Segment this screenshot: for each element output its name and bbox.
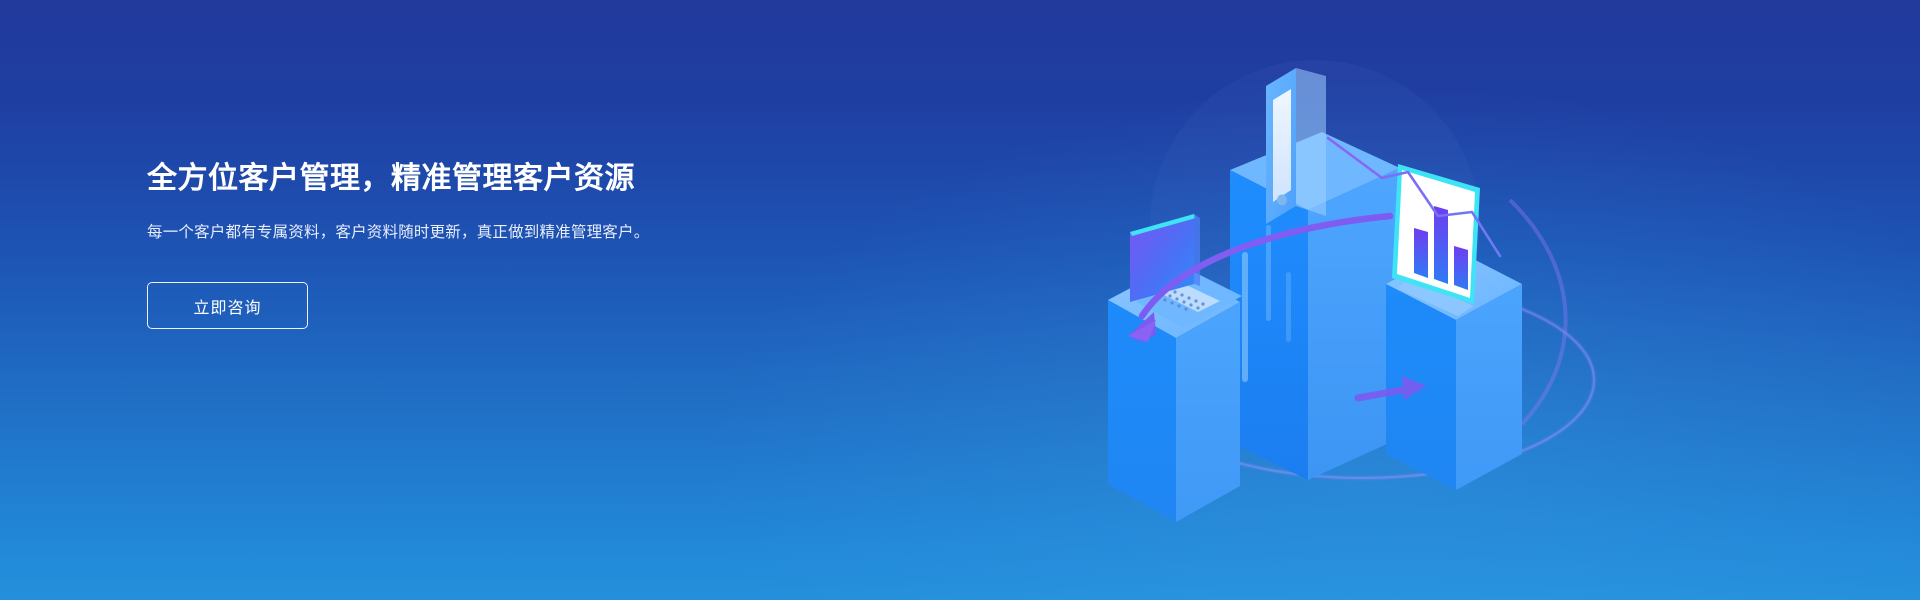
hero-banner: 全方位客户管理，精准管理客户资源 每一个客户都有专属资料，客户资料随时更新，真正…: [0, 0, 1920, 600]
consult-now-button[interactable]: 立即咨询: [147, 282, 308, 329]
hero-subtitle: 每一个客户都有专属资料，客户资料随时更新，真正做到精准管理客户。: [147, 220, 737, 246]
hero-copy-block: 全方位客户管理，精准管理客户资源 每一个客户都有专属资料，客户资料随时更新，真正…: [147, 160, 787, 329]
page-title: 全方位客户管理，精准管理客户资源: [147, 160, 787, 198]
hero-illustration: [1090, 20, 1650, 600]
tablet-device: [1266, 68, 1326, 224]
consult-now-button-label: 立即咨询: [193, 294, 261, 318]
